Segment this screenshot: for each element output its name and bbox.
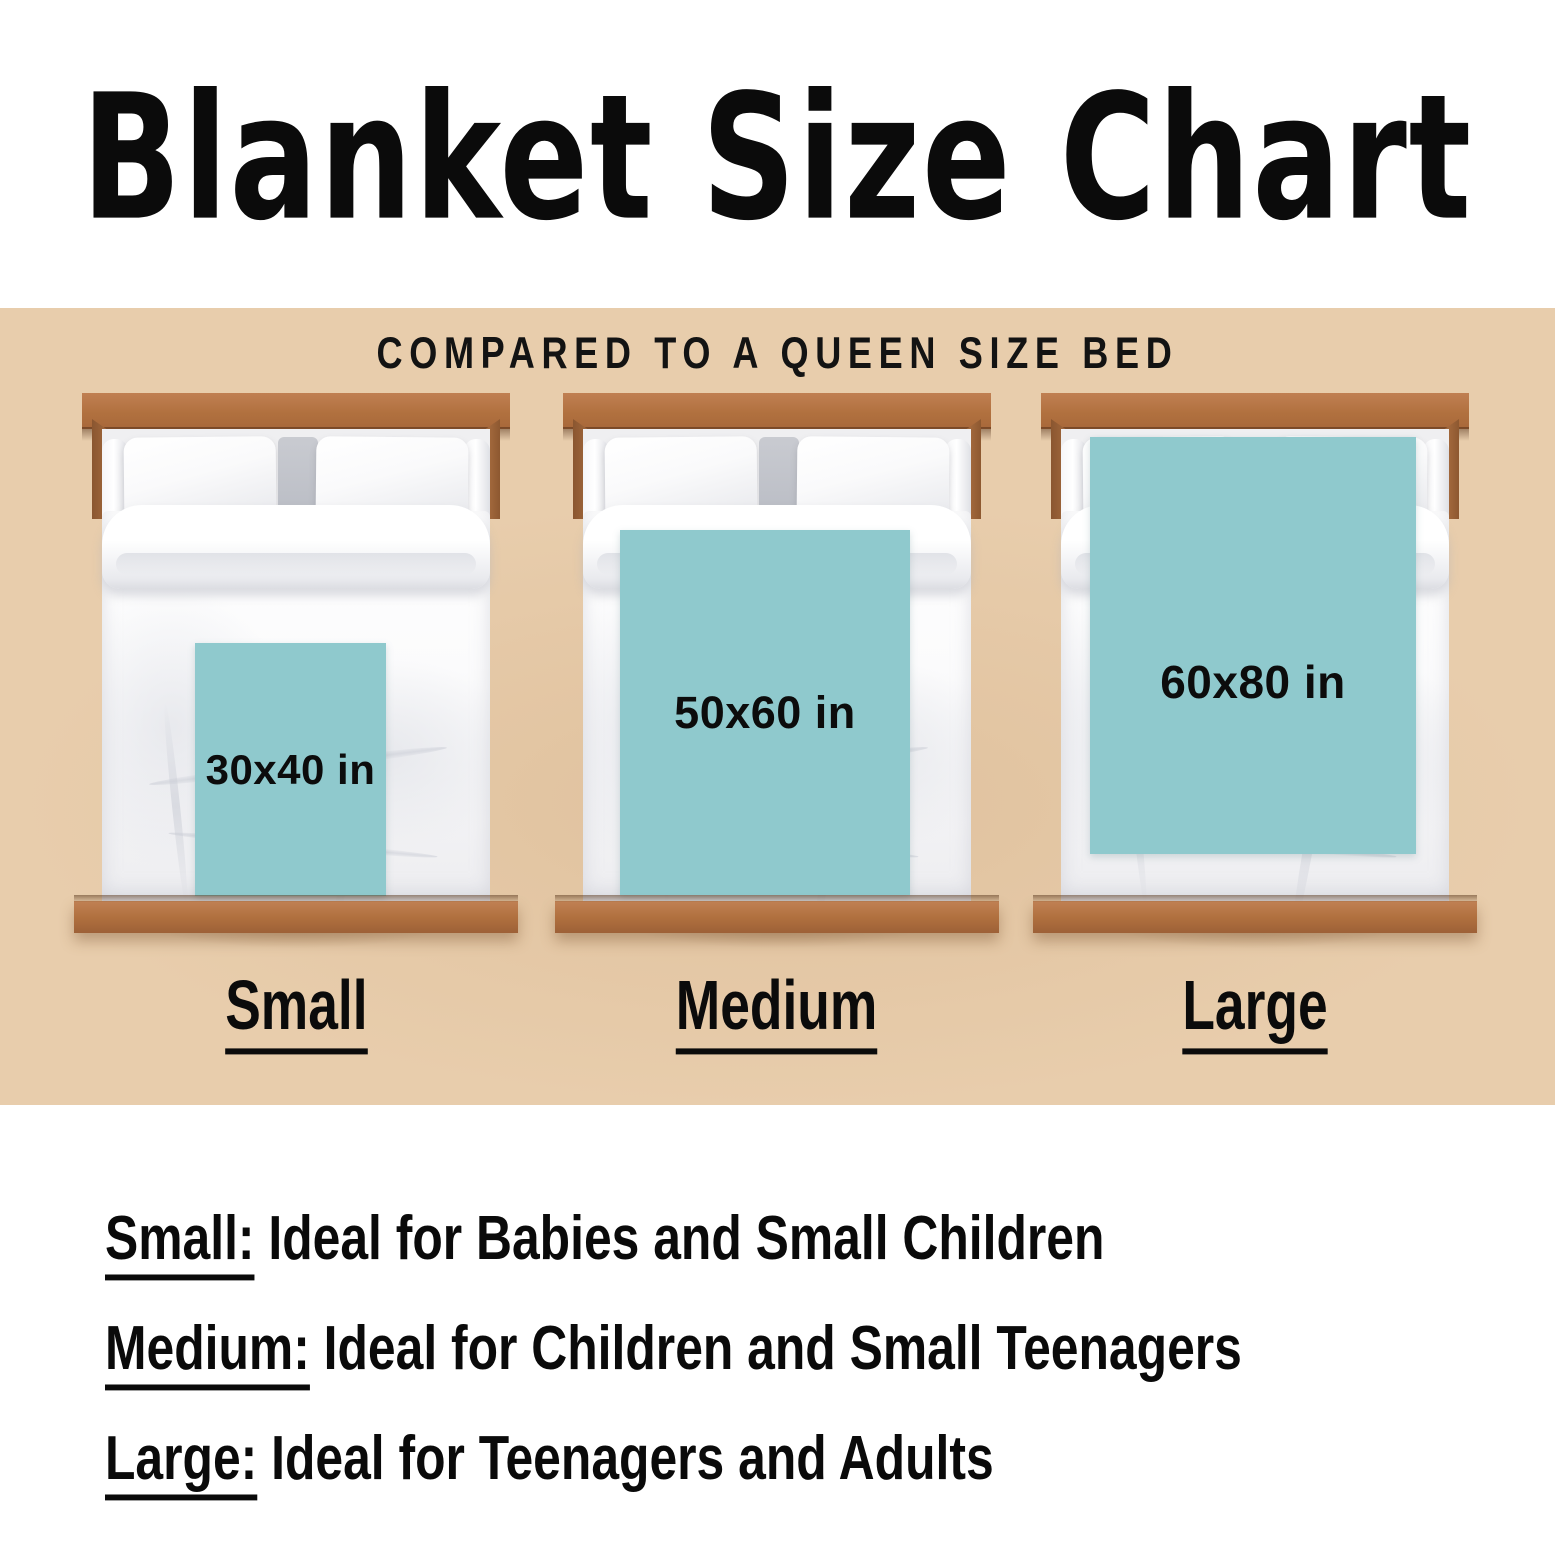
size-label-small-text: Small (225, 966, 367, 1055)
bed-illustration-large: 60x80 in (1041, 393, 1469, 953)
size-label-large: Large (1041, 973, 1469, 1047)
size-label-small: Small (82, 973, 510, 1047)
bed-illustration-small: 30x40 in (82, 393, 510, 953)
blanket-dimensions-small: 30x40 in (206, 746, 376, 794)
legend-description-small: Ideal for Babies and Small Children (268, 1204, 1104, 1274)
duvet-crease (161, 701, 191, 911)
bed-illustration-medium: 50x60 in (563, 393, 991, 953)
legend-line-large: Large: Ideal for Teenagers and Adults (105, 1423, 1402, 1495)
legend-term-small: Small: (105, 1204, 255, 1281)
size-label-medium: Medium (563, 973, 991, 1047)
legend-line-small: Small: Ideal for Babies and Small Childr… (105, 1203, 1402, 1275)
legend-term-large: Large: (105, 1424, 257, 1501)
page-title: Blanket Size Chart (82, 57, 1473, 258)
legend-line-medium: Medium: Ideal for Children and Small Tee… (105, 1313, 1402, 1385)
headboard-top-plank (82, 393, 510, 429)
blanket-swatch-large: 60x80 in (1090, 437, 1416, 854)
legend-term-medium: Medium: (105, 1314, 310, 1391)
blanket-swatch-medium: 50x60 in (620, 530, 910, 895)
headboard-top-plank (1041, 393, 1469, 429)
footboard-plank (74, 901, 518, 933)
blanket-size-chart-page: Blanket Size Chart COMPARED TO A QUEEN S… (0, 0, 1555, 1555)
blanket-swatch-small: 30x40 in (195, 643, 386, 896)
size-label-large-text: Large (1182, 966, 1327, 1055)
legend-description-large: Ideal for Teenagers and Adults (271, 1424, 994, 1494)
footboard-plank (555, 901, 999, 933)
headboard-top-plank (563, 393, 991, 429)
legend-description-medium: Ideal for Children and Small Teenagers (324, 1314, 1242, 1384)
panel-subtitle: COMPARED TO A QUEEN SIZE BED (39, 330, 1516, 380)
blanket-dimensions-large: 60x80 in (1160, 655, 1346, 709)
blanket-dimensions-medium: 50x60 in (674, 687, 856, 739)
size-label-medium-text: Medium (676, 966, 878, 1055)
duvet-top-fold (102, 505, 490, 589)
footboard-plank (1033, 901, 1477, 933)
title-area: Blanket Size Chart (0, 78, 1555, 238)
